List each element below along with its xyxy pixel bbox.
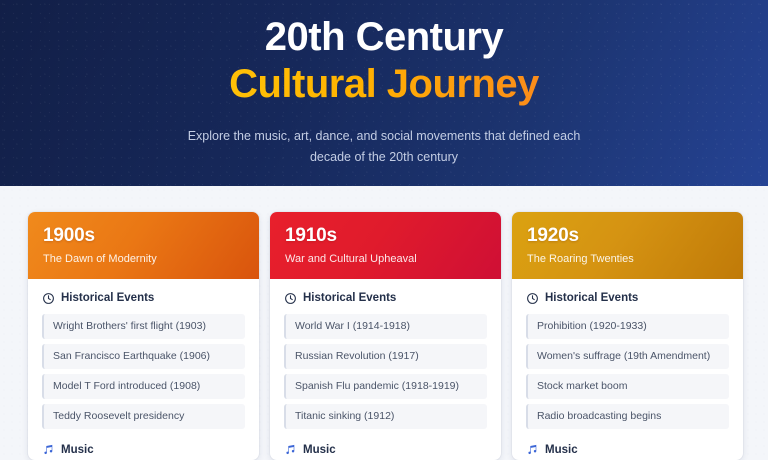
events-list: World War I (1914-1918) Russian Revoluti… [284, 314, 487, 430]
events-list: Wright Brothers' first flight (1903) San… [42, 314, 245, 430]
event-item: Radio broadcasting begins [526, 404, 729, 429]
decade-label: 1910s [285, 225, 486, 247]
page-subtitle: Explore the music, art, dance, and socia… [174, 126, 594, 167]
event-item: Wright Brothers' first flight (1903) [42, 314, 245, 339]
clock-icon [42, 292, 55, 305]
event-item: Women's suffrage (19th Amendment) [526, 344, 729, 369]
event-item: Stock market boom [526, 374, 729, 399]
events-label: Historical Events [61, 292, 154, 304]
music-note-icon [526, 443, 539, 456]
card-header: 1910s War and Cultural Upheaval [270, 212, 501, 279]
music-section-title: Music [284, 443, 487, 456]
event-item: Teddy Roosevelt presidency [42, 404, 245, 429]
music-label: Music [61, 444, 94, 456]
music-label: Music [303, 444, 336, 456]
clock-icon [526, 292, 539, 305]
decade-tagline: War and Cultural Upheaval [285, 253, 486, 265]
decade-tagline: The Roaring Twenties [527, 253, 728, 265]
page-hero: 20th Century Cultural Journey Explore th… [0, 0, 768, 186]
event-item: San Francisco Earthquake (1906) [42, 344, 245, 369]
event-item: Russian Revolution (1917) [284, 344, 487, 369]
page-title-primary: 20th Century [265, 14, 504, 60]
card-header: 1900s The Dawn of Modernity [28, 212, 259, 279]
events-section-title: Historical Events [42, 292, 245, 305]
events-list: Prohibition (1920-1933) Women's suffrage… [526, 314, 729, 430]
decade-tagline: The Dawn of Modernity [43, 253, 244, 265]
music-section-title: Music [42, 443, 245, 456]
decade-label: 1900s [43, 225, 244, 247]
music-note-icon [284, 443, 297, 456]
event-item: Model T Ford introduced (1908) [42, 374, 245, 399]
events-section-title: Historical Events [526, 292, 729, 305]
events-label: Historical Events [303, 292, 396, 304]
card-header: 1920s The Roaring Twenties [512, 212, 743, 279]
decade-label: 1920s [527, 225, 728, 247]
page-title-accent: Cultural Journey [229, 60, 539, 108]
decade-card-1920s[interactable]: 1920s The Roaring Twenties Historical Ev… [512, 212, 743, 460]
decade-card-board: 1900s The Dawn of Modernity Historical E… [0, 186, 768, 460]
music-note-icon [42, 443, 55, 456]
decade-card-1910s[interactable]: 1910s War and Cultural Upheaval Historic… [270, 212, 501, 460]
event-item: Spanish Flu pandemic (1918-1919) [284, 374, 487, 399]
event-item: Prohibition (1920-1933) [526, 314, 729, 339]
music-section-title: Music [526, 443, 729, 456]
events-label: Historical Events [545, 292, 638, 304]
events-section-title: Historical Events [284, 292, 487, 305]
music-label: Music [545, 444, 578, 456]
event-item: World War I (1914-1918) [284, 314, 487, 339]
event-item: Titanic sinking (1912) [284, 404, 487, 429]
decade-card-1900s[interactable]: 1900s The Dawn of Modernity Historical E… [28, 212, 259, 460]
clock-icon [284, 292, 297, 305]
